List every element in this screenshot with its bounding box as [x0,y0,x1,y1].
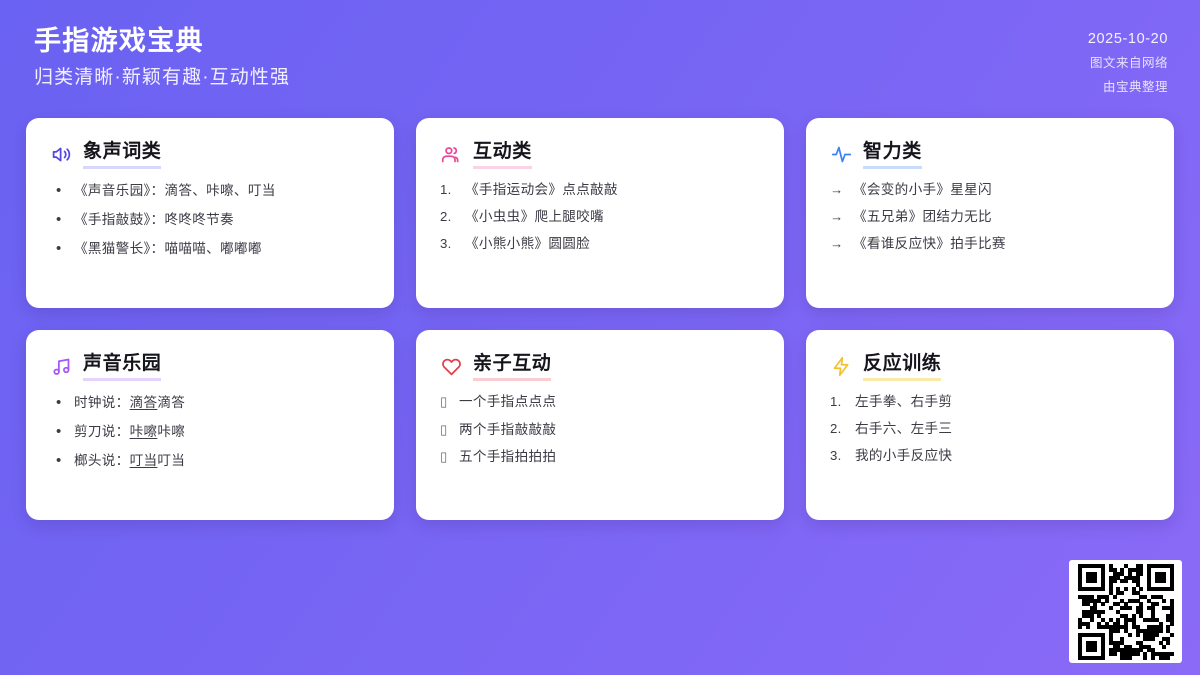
card-onomatopoeia[interactable]: 象声词类•《声音乐园》：滴答、咔嚓、叮当•《手指敲鼓》：咚咚咚节奏•《黑猫警长》… [26,118,394,308]
list-item[interactable]: 2.右手六、左手三 [830,420,1152,438]
card-header: 反应训练 [830,352,1152,381]
list-item-text: 时钟说：滴答滴答 [74,394,185,412]
list-item[interactable]: 1.《手指运动会》点点敲敲 [440,181,762,199]
list-marker: • [50,239,66,259]
card-title: 智力类 [863,140,922,169]
list-marker: ▯ [440,449,451,467]
list-item-text: 《五兄弟》团结力无比 [853,208,992,226]
meta-source: 图文来自网络 [1088,52,1168,71]
list-item-text: 五个手指拍拍拍 [459,448,556,466]
list-item-text: 两个手指敲敲敲 [459,421,556,439]
card-list: •时钟说：滴答滴答•剪刀说：咔嚓咔嚓•榔头说：叮当叮当 [50,393,372,472]
card-title: 反应训练 [863,352,941,381]
list-item[interactable]: 2.《小虫虫》爬上腿咬嘴 [440,208,762,226]
list-item-text: 《小虫虫》爬上腿咬嘴 [465,208,604,226]
list-item[interactable]: ▯五个手指拍拍拍 [440,448,762,467]
card-title: 声音乐园 [83,352,161,381]
poster-root: 手指游戏宝典 归类清晰·新颖有趣·互动性强 2025-10-20 图文来自网络 … [0,0,1200,675]
list-item[interactable]: ▯两个手指敲敲敲 [440,421,762,440]
card-parent-child[interactable]: 亲子互动▯一个手指点点点▯两个手指敲敲敲▯五个手指拍拍拍 [416,330,784,520]
list-marker: • [50,451,66,471]
list-marker: • [50,181,66,201]
header-left: 手指游戏宝典 归类清晰·新颖有趣·互动性强 [34,26,290,90]
list-item-text: 《手指运动会》点点敲敲 [465,181,618,199]
card-header: 象声词类 [50,140,372,169]
bolt-icon [830,355,852,377]
list-item[interactable]: 1.左手拳、右手剪 [830,393,1152,411]
list-item-text: 《看谁反应快》拍手比赛 [853,235,1006,253]
card-sound-park[interactable]: 声音乐园•时钟说：滴答滴答•剪刀说：咔嚓咔嚓•榔头说：叮当叮当 [26,330,394,520]
card-grid: 象声词类•《声音乐园》：滴答、咔嚓、叮当•《手指敲鼓》：咚咚咚节奏•《黑猫警长》… [0,118,1200,675]
list-item-text: 《声音乐园》：滴答、咔嚓、叮当 [74,182,276,200]
card-header: 智力类 [830,140,1152,169]
music-note-icon [50,355,72,377]
list-item-text: 《会变的小手》星星闪 [853,181,992,199]
list-item-text: 一个手指点点点 [459,393,556,411]
card-header: 声音乐园 [50,352,372,381]
list-marker: • [50,210,66,230]
list-marker: 1. [830,393,847,411]
list-marker: → [830,181,845,199]
list-marker: 2. [830,420,847,438]
activity-icon [830,143,852,165]
list-item[interactable]: •《声音乐园》：滴答、咔嚓、叮当 [50,181,372,201]
list-item-text: 剪刀说：咔嚓咔嚓 [74,423,185,441]
list-marker: • [50,422,66,442]
qr-code [1078,564,1174,660]
card-list: 1.左手拳、右手剪2.右手六、左手三3.我的小手反应快 [830,393,1152,466]
card-intelligence[interactable]: 智力类→《会变的小手》星星闪→《五兄弟》团结力无比→《看谁反应快》拍手比赛 [806,118,1174,308]
meta-date: 2025-10-20 [1088,31,1168,47]
card-title: 互动类 [473,140,532,169]
card-interactive[interactable]: 互动类1.《手指运动会》点点敲敲2.《小虫虫》爬上腿咬嘴3.《小熊小熊》圆圆脸 [416,118,784,308]
list-marker: → [830,235,845,253]
card-list: 1.《手指运动会》点点敲敲2.《小虫虫》爬上腿咬嘴3.《小熊小熊》圆圆脸 [440,181,762,254]
card-reaction-training[interactable]: 反应训练1.左手拳、右手剪2.右手六、左手三3.我的小手反应快 [806,330,1174,520]
list-item[interactable]: •《手指敲鼓》：咚咚咚节奏 [50,210,372,230]
list-item[interactable]: 3.《小熊小熊》圆圆脸 [440,235,762,253]
card-list: •《声音乐园》：滴答、咔嚓、叮当•《手指敲鼓》：咚咚咚节奏•《黑猫警长》：喵喵喵… [50,181,372,260]
card-list: →《会变的小手》星星闪→《五兄弟》团结力无比→《看谁反应快》拍手比赛 [830,181,1152,254]
list-item[interactable]: ▯一个手指点点点 [440,393,762,412]
card-title: 亲子互动 [473,352,551,381]
list-item[interactable]: →《看谁反应快》拍手比赛 [830,235,1152,253]
list-marker: → [830,208,845,226]
users-icon [440,143,462,165]
list-item-text: 《黑猫警长》：喵喵喵、嘟嘟嘟 [74,240,262,258]
list-item-text: 《小熊小熊》圆圆脸 [465,235,590,253]
header-meta: 2025-10-20 图文来自网络 由宝典整理 [1088,26,1168,95]
page-title: 手指游戏宝典 [34,26,290,58]
list-marker: ▯ [440,394,451,412]
list-marker: 3. [830,447,847,465]
list-item-text: 榔头说：叮当叮当 [74,452,185,470]
card-header: 亲子互动 [440,352,762,381]
list-item[interactable]: •《黑猫警长》：喵喵喵、嘟嘟嘟 [50,239,372,259]
card-list: ▯一个手指点点点▯两个手指敲敲敲▯五个手指拍拍拍 [440,393,762,467]
list-item[interactable]: •剪刀说：咔嚓咔嚓 [50,422,372,442]
volume-icon [50,143,72,165]
list-marker: ▯ [440,422,451,440]
list-marker: 1. [440,181,457,199]
meta-credit: 由宝典整理 [1088,76,1168,95]
list-marker: 2. [440,208,457,226]
card-title: 象声词类 [83,140,161,169]
list-marker: • [50,393,66,413]
list-item[interactable]: •时钟说：滴答滴答 [50,393,372,413]
header: 手指游戏宝典 归类清晰·新颖有趣·互动性强 2025-10-20 图文来自网络 … [0,0,1200,118]
page-subtitle: 归类清晰·新颖有趣·互动性强 [34,67,290,90]
list-item[interactable]: 3.我的小手反应快 [830,447,1152,465]
list-item[interactable]: →《会变的小手》星星闪 [830,181,1152,199]
list-item-text: 左手拳、右手剪 [855,393,952,411]
list-item-text: 右手六、左手三 [855,420,952,438]
list-item[interactable]: •榔头说：叮当叮当 [50,451,372,471]
list-item-text: 我的小手反应快 [855,447,952,465]
qr-code-container[interactable] [1069,560,1182,663]
card-header: 互动类 [440,140,762,169]
list-item[interactable]: →《五兄弟》团结力无比 [830,208,1152,226]
list-marker: 3. [440,235,457,253]
list-item-text: 《手指敲鼓》：咚咚咚节奏 [74,211,234,229]
heart-icon [440,355,462,377]
